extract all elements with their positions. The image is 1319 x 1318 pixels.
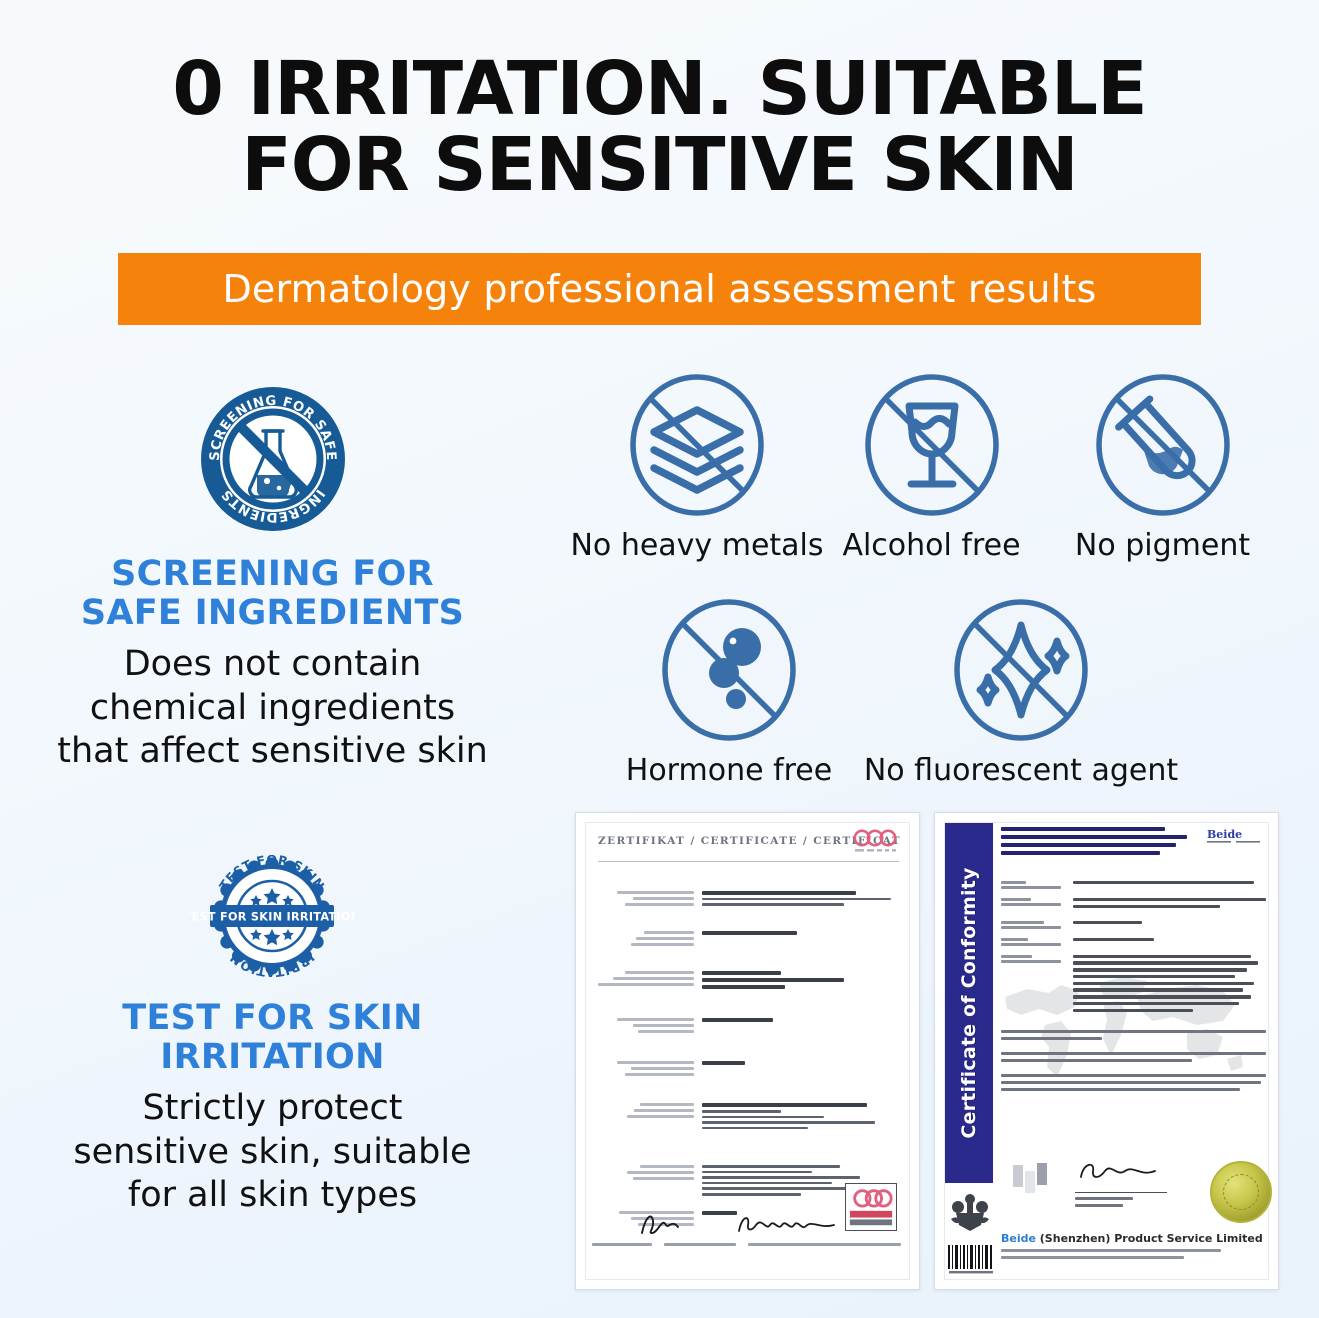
feature-2-body: Strictly protect sensitive skin, suitabl…: [0, 1087, 545, 1217]
royal-crest-icon: [947, 1191, 993, 1237]
eco-certificate[interactable]: ZERTIFIKAT / CERTIFICATE / CERTIFICAT: [575, 812, 920, 1290]
eco-signature-right: [736, 1211, 846, 1237]
claim-icon-grid: No heavy metals Alcohol free: [578, 370, 1278, 788]
ce-mark-icon: [1013, 1163, 1055, 1193]
layers-prohibited-icon: [622, 370, 772, 520]
headline-line-1: 0 IRRITATION. SUITABLE: [172, 46, 1146, 132]
feature-2-body-line-2: sensitive skin, suitable: [0, 1131, 545, 1174]
feature-screening-ingredients: SCREENING FOR SAFE INGREDIENTS: [0, 385, 545, 774]
subtitle-banner: Dermatology professional assessment resu…: [118, 253, 1201, 325]
claim-label: No fluorescent agent: [864, 753, 1178, 788]
wine-glass-prohibited-icon: [857, 370, 1007, 520]
claim-hormone-free: Hormone free: [602, 595, 856, 788]
feature-2-body-line-3: for all skin types: [0, 1174, 545, 1217]
claim-no-fluorescent-agent: No fluorescent agent: [856, 595, 1186, 788]
conformity-signer-rule: [1075, 1192, 1167, 1193]
claim-label: No pigment: [1075, 528, 1250, 563]
eco-place-date: [592, 1243, 652, 1249]
feature-1-title-line-2: SAFE INGREDIENTS: [0, 594, 545, 633]
headline-line-2: FOR SENSITIVE SKIN: [70, 130, 1249, 200]
feature-2-body-line-1: Strictly protect: [0, 1087, 545, 1130]
svg-text:TEST FOR SKIN IRRITATION: TEST FOR SKIN IRRITATION: [190, 911, 355, 924]
eco-signature-left: [638, 1211, 694, 1237]
claim-icon-row-1: No heavy metals Alcohol free: [578, 370, 1278, 563]
feature-2-title-line-2: IRRITATION: [0, 1038, 545, 1077]
svg-text:Beide: Beide: [1207, 828, 1242, 841]
subtitle-banner-label: Dermatology professional assessment resu…: [222, 267, 1096, 311]
claim-icon-row-2: Hormone free No fluorescent agent: [578, 595, 1278, 788]
feature-1-title: SCREENING FOR SAFE INGREDIENTS: [0, 555, 545, 633]
conformity-field-manufacturer: [1001, 921, 1266, 929]
conformity-side-title: Certificate of Conformity: [958, 867, 980, 1138]
eco-signer-right-name: [748, 1243, 858, 1249]
feature-2-title: TEST FOR SKIN IRRITATION: [0, 999, 545, 1077]
page-title: 0 IRRITATION. SUITABLE FOR SENSITIVE SKI…: [0, 54, 1319, 201]
claim-label: Hormone free: [626, 753, 832, 788]
conformity-field-address: [1001, 898, 1266, 912]
feature-skin-irritation-test: TEST FOR SKIN IRRITATION TEST FOR SKIN I…: [0, 855, 545, 1218]
sparkle-prohibited-icon: [946, 595, 1096, 745]
claim-no-heavy-metals: No heavy metals: [578, 370, 816, 563]
claim-label: Alcohol free: [842, 528, 1020, 563]
conformity-field-holder: [1001, 881, 1266, 889]
beide-logo: Beide: [1206, 827, 1264, 847]
conformity-side-bar: Certificate of Conformity: [945, 823, 993, 1183]
eco-field-product: [598, 891, 899, 909]
flask-badge-wrap: SCREENING FOR SAFE INGREDIENTS: [0, 385, 545, 533]
feature-1-body-line-1: Does not contain: [0, 643, 545, 686]
feature-1-body-line-3: that affect sensitive skin: [0, 730, 545, 773]
eco-field-holder: [598, 971, 899, 992]
eco-field-type: [598, 931, 899, 949]
claim-alcohol-free: Alcohol free: [816, 370, 1047, 563]
feature-1-body: Does not contain chemical ingredients th…: [0, 643, 545, 773]
conformity-issuer-suffix: (Shenzhen) Product Service Limited: [1036, 1232, 1263, 1245]
certificates-row: ZERTIFIKAT / CERTIFICATE / CERTIFICAT: [575, 812, 1279, 1290]
stamp-seal-icon: TEST FOR SKIN IRRITATION TEST FOR SKIN I…: [190, 855, 355, 977]
feature-1-title-line-1: SCREENING FOR: [0, 555, 545, 594]
conformity-field-model-no: [1001, 955, 1266, 1016]
claim-no-pigment: No pigment: [1047, 370, 1278, 563]
eco-stamp-caption: [849, 1243, 901, 1249]
conformity-statement-3: [1001, 1074, 1266, 1091]
conformity-certificate[interactable]: Certificate of Conformity Beide: [934, 812, 1279, 1290]
conformity-issuer-brand: Beide: [1001, 1232, 1036, 1245]
conformity-issuer-name: Beide (Shenzhen) Product Service Limited: [1001, 1232, 1263, 1245]
eco-title-rule: [598, 861, 899, 862]
conformity-statement-2: [1001, 1052, 1266, 1062]
stamp-badge-wrap: TEST FOR SKIN IRRITATION TEST FOR SKIN I…: [0, 855, 545, 977]
test-tube-prohibited-icon: [1088, 370, 1238, 520]
flask-prohibited-icon: SCREENING FOR SAFE INGREDIENTS: [199, 385, 347, 533]
conformity-signer-title: [1075, 1197, 1155, 1207]
conformity-signature: [1075, 1159, 1161, 1185]
gold-seal-icon: [1210, 1161, 1272, 1223]
conformity-field-product: [1001, 938, 1266, 946]
barcode-icon: [947, 1245, 995, 1275]
eco-signer-left-name: [664, 1243, 736, 1249]
conformity-statement-1: [1001, 1030, 1266, 1040]
molecule-prohibited-icon: [654, 595, 804, 745]
conformity-issuer-footer: Beide (Shenzhen) Product Service Limited: [1001, 1232, 1263, 1259]
eco-institut-stamp: [845, 1183, 897, 1231]
feature-2-title-line-1: TEST FOR SKIN: [0, 999, 545, 1038]
eco-field-certificate-number: [598, 1018, 899, 1036]
eco-field-testing: [598, 1103, 899, 1132]
claim-label: No heavy metals: [570, 528, 823, 563]
feature-1-body-line-2: chemical ingredients: [0, 687, 545, 730]
eco-field-report-number: [598, 1061, 899, 1079]
eco-institut-logo: [853, 829, 899, 855]
